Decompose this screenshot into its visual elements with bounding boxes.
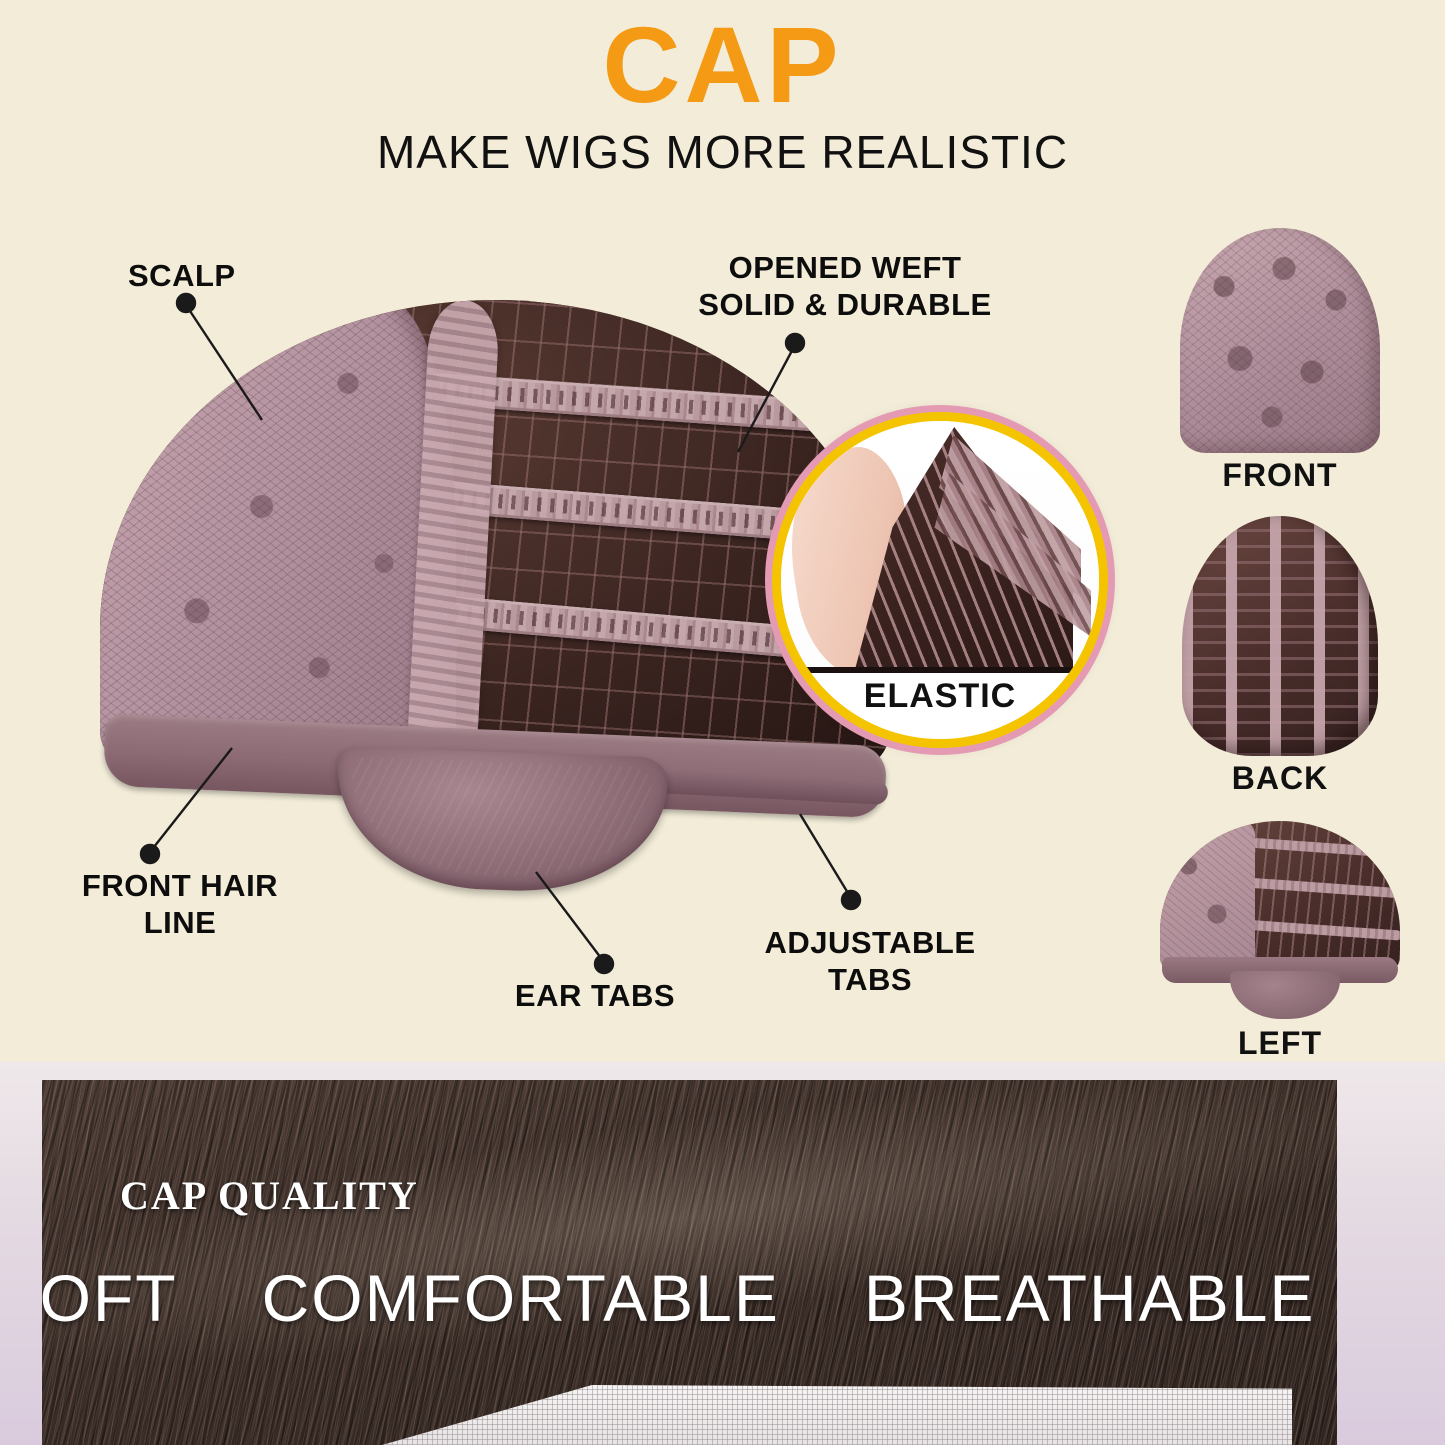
quality-word-soft: SOFT	[42, 1260, 178, 1336]
cap-left-dome	[1160, 821, 1400, 971]
thumbnail-front: FRONT	[1120, 228, 1440, 494]
view-thumbnail-column: FRONT BACK LEFT	[1120, 228, 1440, 1068]
weft-ribbon	[1252, 838, 1400, 858]
cap-back-view	[1182, 516, 1378, 756]
elastic-caption: ELASTIC	[781, 677, 1099, 716]
callout-label-ear-tabs: EAR TABS	[455, 978, 735, 1015]
hair-photo: CAP QUALITY SOFT COMFORTABLE BREATHABLE	[42, 1080, 1337, 1445]
ear-tab-flap	[334, 746, 669, 895]
cap-quality-panel: CAP QUALITY SOFT COMFORTABLE BREATHABLE	[0, 1062, 1445, 1445]
page-subtitle: MAKE WIGS MORE REALISTIC	[0, 125, 1445, 179]
thumbnail-label-left: LEFT	[1120, 1025, 1440, 1062]
weft-ribbon	[1242, 919, 1400, 940]
thumbnail-label-front: FRONT	[1120, 457, 1440, 494]
scalp-lace-panel	[1160, 821, 1255, 971]
thumbnail-label-back: BACK	[1120, 760, 1440, 797]
callout-label-adjustable-tabs: ADJUSTABLE TABS	[720, 925, 1020, 998]
callout-label-scalp: SCALP	[128, 258, 236, 295]
elastic-detail-inset: ELASTIC	[772, 412, 1108, 748]
thumbnail-left: LEFT	[1120, 821, 1440, 1062]
page-title: CAP	[0, 8, 1445, 121]
callout-label-front-hair-line: FRONT HAIR LINE	[40, 868, 320, 941]
quality-word-row: SOFT COMFORTABLE BREATHABLE	[42, 1260, 1337, 1336]
photo-baseline	[781, 667, 1099, 673]
cap-quality-heading: CAP QUALITY	[120, 1172, 419, 1219]
elastic-photo	[781, 421, 1099, 673]
callout-label-opened-weft: OPENED WEFT SOLID & DURABLE	[650, 250, 1040, 323]
cap-dome	[100, 300, 890, 770]
weft-ribbon	[1246, 878, 1400, 899]
cap-left-view	[1160, 821, 1400, 1021]
infographic-canvas: CAP MAKE WIGS MORE REALISTIC SCALP OPENE…	[0, 0, 1445, 1445]
thumbnail-back: BACK	[1120, 516, 1440, 797]
quality-word-breathable: BREATHABLE	[864, 1260, 1316, 1336]
cap-front-view	[1180, 228, 1380, 453]
ear-tab-flap	[1230, 971, 1340, 1019]
quality-word-comfortable: COMFORTABLE	[262, 1260, 780, 1336]
